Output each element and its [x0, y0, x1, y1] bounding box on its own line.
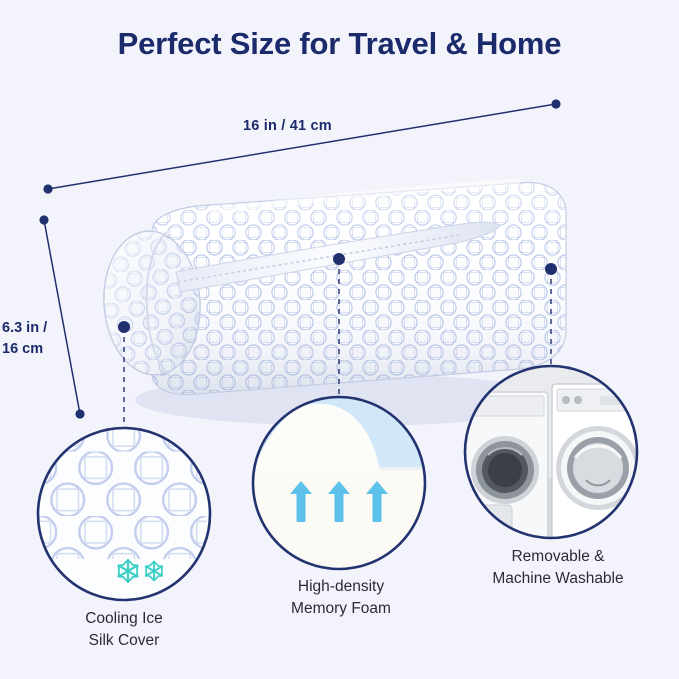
caption-line-1: Removable & — [452, 546, 664, 568]
up-arrow-icon — [290, 481, 388, 522]
height-dimension-line — [39, 215, 84, 418]
height-dimension-label-line1: 6.3 in / — [2, 318, 80, 339]
caption-line-2: Memory Foam — [246, 598, 436, 620]
caption-line-2: Silk Cover — [36, 630, 212, 652]
washing-machine-icon — [462, 384, 644, 544]
height-dimension-label: 6.3 in / 16 cm — [2, 318, 80, 360]
height-dimension-label-line2: 16 cm — [2, 339, 80, 360]
caption-line-2: Machine Washable — [452, 568, 664, 590]
product-infographic: Perfect Size for Travel & Home — [0, 0, 679, 679]
length-dimension-line — [43, 99, 560, 193]
callout-high-density-memory-foam — [253, 397, 425, 569]
callout-caption-cooling-ice-silk-cover: Cooling Ice Silk Cover — [36, 608, 212, 652]
callout-caption-high-density-memory-foam: High-density Memory Foam — [246, 576, 436, 620]
caption-line-1: High-density — [246, 576, 436, 598]
caption-line-1: Cooling Ice — [36, 608, 212, 630]
callout-removable-machine-washable — [462, 366, 644, 544]
length-dimension-label: 16 in / 41 cm — [243, 118, 332, 134]
callout-caption-removable-machine-washable: Removable & Machine Washable — [452, 546, 664, 590]
